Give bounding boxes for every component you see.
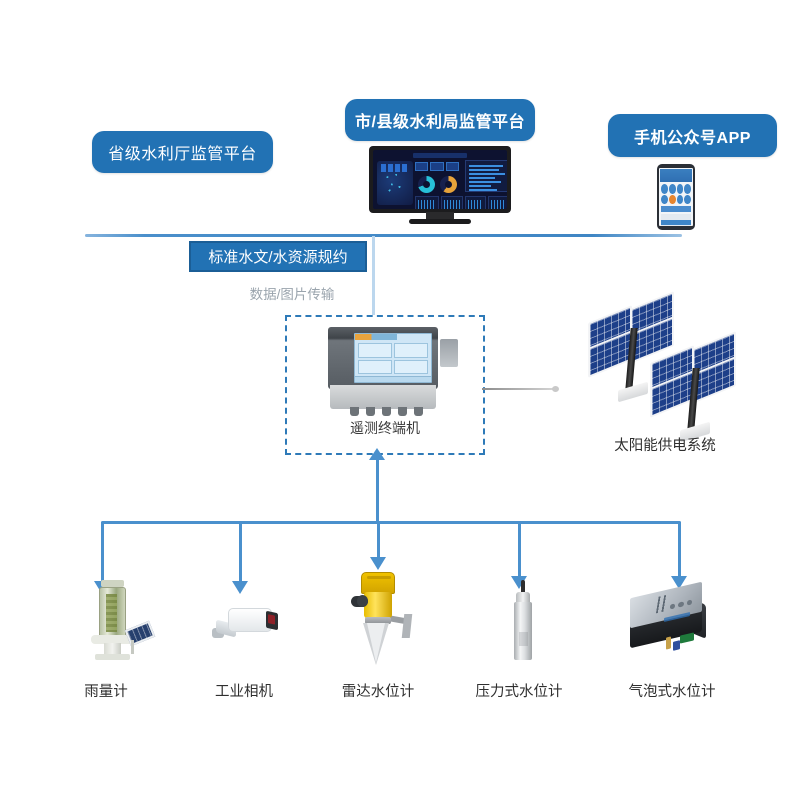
- rtu-connector: [414, 407, 423, 416]
- rtu-connector: [366, 407, 375, 416]
- dashboard-bar-panel: [465, 160, 507, 192]
- platform-box-provincial[interactable]: 省级水利厅监管平台: [92, 131, 273, 173]
- solar-array: [650, 340, 742, 440]
- solar-panel-icon: [588, 300, 768, 450]
- solar-power-label: 太阳能供电系统: [590, 434, 740, 455]
- platform-label-provincial: 省级水利厅监管平台: [108, 140, 257, 164]
- rtu-screen-titlebar: [355, 334, 431, 340]
- smartphone-icon: [657, 164, 695, 230]
- rain-gauge-icon: [85, 585, 165, 663]
- rtu-screen-statusbar: [355, 376, 431, 382]
- solar-base: [618, 382, 648, 403]
- radar-bracket-plate: [402, 614, 413, 638]
- rtu-uplink-line: [372, 236, 375, 316]
- rtu-screen-cells: [358, 343, 428, 374]
- platform-label-city-county: 市/县级水利局监管平台: [355, 108, 525, 132]
- dashboard-chart-4: [488, 196, 507, 209]
- dashboard-chart-2: [441, 196, 463, 209]
- phone-banner: [660, 169, 692, 182]
- protocol-label-box: 标准水文/水资源规约: [189, 241, 367, 272]
- radar-cable-gland: [357, 595, 368, 607]
- platform-box-city-county[interactable]: 市/县级水利局监管平台: [345, 99, 535, 141]
- rtu-base: [330, 385, 436, 409]
- platform-bus-line: [85, 234, 682, 237]
- radar-housing-body: [364, 592, 392, 618]
- rtu-connector: [350, 407, 359, 416]
- phone-icon-grid: [661, 184, 691, 204]
- sensor-drop-arrowhead: [232, 581, 248, 594]
- pressure-sensor-body: [514, 602, 532, 660]
- rain-gauge-solar-panel: [125, 621, 155, 647]
- rain-gauge-cylinder: [99, 587, 126, 637]
- sensor-to-rtu-line: [376, 455, 379, 523]
- radar-level-gauge-icon: [345, 572, 425, 667]
- sensor-drop-line: [101, 522, 104, 584]
- bubble-level-gauge-icon: [626, 588, 716, 658]
- device-label-pressure-level: 压力式水位计: [449, 680, 589, 701]
- bubble-gauge-terminal-block: [680, 632, 694, 643]
- dashboard-title-bar: [413, 153, 467, 158]
- device-label-bubble-level: 气泡式水位计: [602, 680, 742, 701]
- dashboard-donut-2: [440, 176, 457, 193]
- rtu-side-port: [440, 339, 458, 367]
- desktop-monitor-icon: [369, 146, 511, 226]
- radar-horn-inner: [367, 623, 385, 663]
- sensor-drop-line: [518, 522, 521, 579]
- rain-gauge-foot: [95, 654, 130, 660]
- monitor-screen: [373, 150, 507, 209]
- sensor-drop-line: [377, 522, 380, 560]
- camera-lens: [266, 611, 278, 631]
- rain-gauge-funnel: [101, 580, 124, 587]
- sensor-drop-line: [239, 522, 242, 584]
- phone-footer: [661, 220, 691, 225]
- bubble-gauge-connector: [673, 640, 680, 651]
- monitor-foot: [409, 219, 471, 224]
- dashboard-kpi-top: [415, 162, 459, 171]
- rtu-connector: [382, 407, 391, 416]
- rtu-connector: [398, 407, 407, 416]
- sensor-to-rtu-arrowhead: [369, 448, 385, 460]
- dashboard-kpi-left: [381, 164, 407, 172]
- dashboard-donut-1: [418, 176, 435, 193]
- dashboard-chart-1: [415, 196, 439, 209]
- protocol-secondary-label: 数据/图片传输: [232, 283, 352, 303]
- device-label-rain-gauge: 雨量计: [36, 680, 176, 701]
- protocol-primary-label: 标准水文/水资源规约: [208, 246, 347, 267]
- rtu-terminal-icon: [318, 327, 454, 415]
- diagram-canvas: 省级水利厅监管平台 市/县级水利局监管平台 手机公众号APP: [0, 0, 800, 800]
- rtu-label: 遥测终端机: [285, 418, 485, 438]
- sensor-drop-arrowhead: [370, 557, 386, 570]
- phone-section-bar: [661, 206, 691, 212]
- antenna-tip-icon: [552, 386, 559, 392]
- radar-housing-cap: [361, 572, 395, 594]
- sensor-bus-line: [101, 521, 681, 524]
- device-label-radar-level: 雷达水位计: [308, 680, 448, 701]
- platform-label-mobile-app: 手机公众号APP: [634, 124, 751, 148]
- dashboard-chart-3: [465, 196, 486, 209]
- bubble-gauge-connector: [666, 636, 671, 649]
- rtu-body: [328, 327, 438, 389]
- antenna-rod-icon: [482, 388, 558, 390]
- platform-box-mobile-app[interactable]: 手机公众号APP: [608, 114, 777, 157]
- device-label-industrial-camera: 工业相机: [174, 680, 314, 701]
- pressure-level-gauge-icon: [505, 580, 545, 664]
- monitor-frame: [369, 146, 511, 213]
- phone-screen: [659, 168, 693, 226]
- phone-body: [657, 164, 695, 230]
- industrial-camera-icon: [210, 600, 290, 660]
- sensor-drop-line: [678, 522, 681, 579]
- rtu-screen: [354, 333, 432, 383]
- rain-gauge-solar-leg: [131, 640, 134, 654]
